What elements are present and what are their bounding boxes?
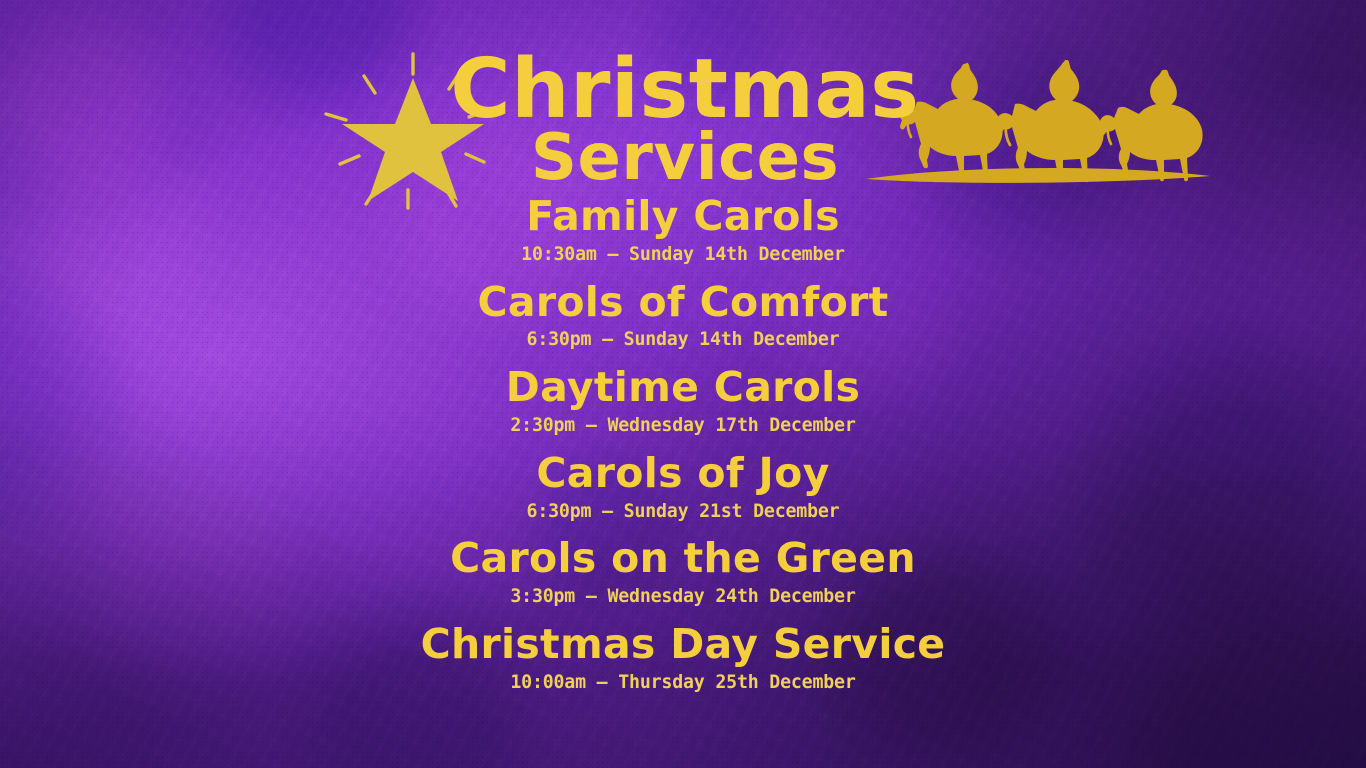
service-item: Daytime Carols 2:30pm – Wednesday 17th D… xyxy=(0,367,1366,437)
service-item: Family Carols 10:30am – Sunday 14th Dece… xyxy=(0,196,1366,266)
camel-2 xyxy=(997,60,1104,182)
service-name: Family Carols xyxy=(0,196,1366,238)
service-item: Carols on the Green 3:30pm – Wednesday 2… xyxy=(0,538,1366,608)
service-time: 10:30am – Sunday 14th December xyxy=(27,243,1338,266)
service-time: 10:00am – Thursday 25th December xyxy=(27,671,1338,694)
title-line-services: Services xyxy=(420,129,950,188)
service-item: Christmas Day Service 10:00am – Thursday… xyxy=(0,624,1366,694)
service-name: Carols on the Green xyxy=(0,538,1366,580)
camel-3 xyxy=(1100,70,1203,182)
service-time: 3:30pm – Wednesday 24th December xyxy=(27,585,1338,608)
services-list: Family Carols 10:30am – Sunday 14th Dece… xyxy=(0,196,1366,710)
service-item: Carols of Joy 6:30pm – Sunday 21st Decem… xyxy=(0,453,1366,523)
service-time: 6:30pm – Sunday 14th December xyxy=(27,328,1338,351)
service-time: 6:30pm – Sunday 21st December xyxy=(27,500,1338,523)
service-name: Daytime Carols xyxy=(0,367,1366,409)
service-time: 2:30pm – Wednesday 17th December xyxy=(27,414,1338,437)
title-line-christmas: Christmas xyxy=(420,52,950,127)
service-item: Carols of Comfort 6:30pm – Sunday 14th D… xyxy=(0,282,1366,352)
service-name: Carols of Joy xyxy=(0,453,1366,495)
service-name: Carols of Comfort xyxy=(0,282,1366,324)
page-title: Christmas Services xyxy=(420,52,950,188)
christmas-services-poster: Christmas Services Family Carols 10:30am… xyxy=(0,0,1366,768)
service-name: Christmas Day Service xyxy=(0,624,1366,666)
